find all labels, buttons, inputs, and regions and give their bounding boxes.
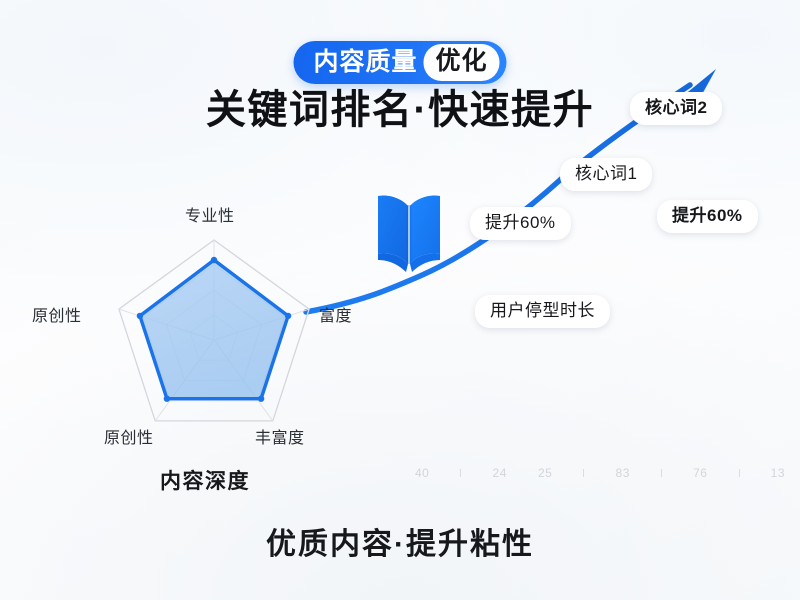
axis-tick-strip: 40 24 25 83 76 13 xyxy=(415,462,785,484)
pill-uplift-right[interactable]: 提升60% xyxy=(657,200,758,233)
radar-data-polygon xyxy=(140,260,288,399)
tick-value: 24 xyxy=(493,466,507,480)
badge-main-label: 内容质量 xyxy=(313,50,417,75)
tick-value: 83 xyxy=(616,466,630,480)
radar-chart: 专业性 富度 丰富度 原创性 原创性 xyxy=(20,190,410,460)
tick-value: 13 xyxy=(771,466,785,480)
radar-label-right: 富度 xyxy=(319,302,352,326)
tick-value: 25 xyxy=(538,466,552,480)
pill-core-keyword-2[interactable]: 核心词2 xyxy=(630,92,722,125)
pill-dwell-time[interactable]: 用户停型时长 xyxy=(475,295,610,328)
radar-label-top: 专业性 xyxy=(185,202,235,226)
content-quality-badge[interactable]: 内容质量 优化 xyxy=(293,41,506,84)
poster-canvas: 内容质量 优化 关键词排名·快速提升 xyxy=(0,0,800,600)
tick-mark xyxy=(460,469,461,477)
bottom-tagline: 优质内容·提升粘性 xyxy=(0,519,800,563)
pill-uplift-left[interactable]: 提升60% xyxy=(470,207,571,240)
tick-mark xyxy=(583,469,584,477)
pill-core-keyword-1[interactable]: 核心词1 xyxy=(560,158,652,191)
radar-label-bottom-right: 丰富度 xyxy=(255,424,305,448)
tick-value: 40 xyxy=(415,466,429,480)
tick-mark xyxy=(661,469,662,477)
radar-label-bottom-left: 原创性 xyxy=(104,424,154,448)
radar-caption: 内容深度 xyxy=(160,465,250,495)
radar-label-left: 原创性 xyxy=(32,302,82,326)
tick-mark xyxy=(739,469,740,477)
tick-value: 76 xyxy=(693,466,707,480)
badge-chip-label: 优化 xyxy=(424,44,500,81)
